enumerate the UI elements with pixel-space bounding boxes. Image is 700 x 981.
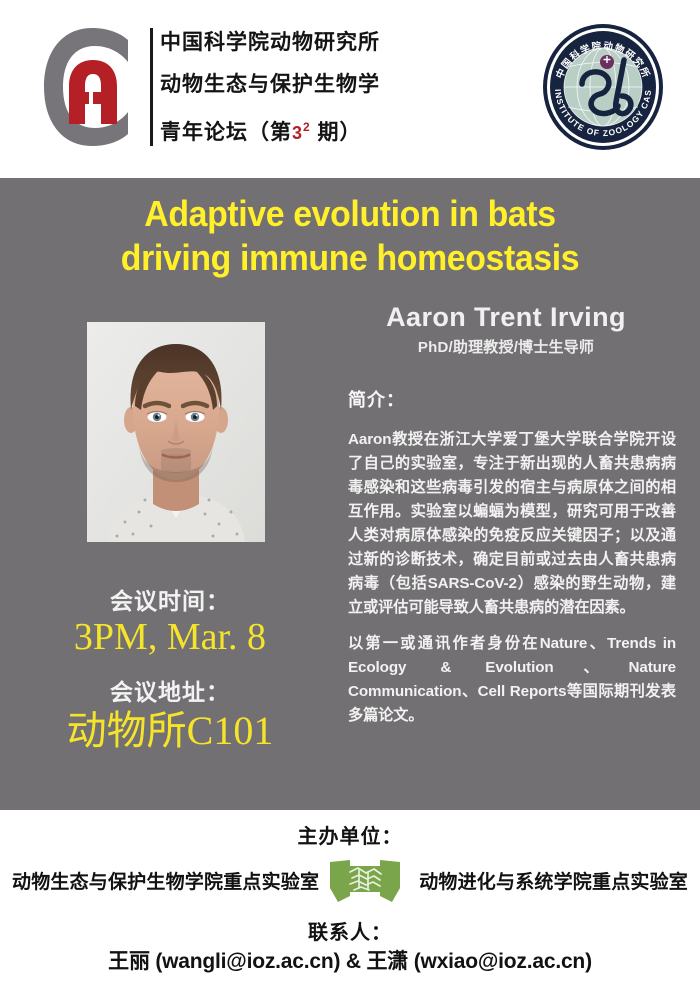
meeting-time-value: 3PM, Mar. 8 [10, 614, 330, 660]
speaker-portrait-photo [87, 322, 265, 542]
meeting-time-label: 会议时间： [20, 582, 320, 616]
poster-main-panel: Adaptive evolution in bats driving immun… [0, 178, 700, 810]
poster-header: 中国科学院动物研究所 动物生态与保护生物学 青年论坛（第32 期） [0, 0, 700, 178]
poster-title-line-1: Adaptive evolution in bats [21, 192, 679, 236]
header-department-line: 动物生态与保护生物学 [160, 64, 550, 106]
host-lab-right: 动物进化与系统学院重点实验室 [419, 867, 688, 894]
cas-c-a-logo-icon [38, 24, 146, 150]
bio-paragraph-2: 以第一或通讯作者身份在Nature、Trends in Ecology & Ev… [348, 632, 676, 728]
poster-footer: 主办单位： 动物生态与保护生物学院重点实验室 动物进化与系统学院重点实验室 联系… [0, 810, 700, 981]
poster-title: Adaptive evolution in bats driving immun… [21, 192, 679, 280]
handshake-icon [328, 858, 402, 904]
forum-suffix-text: 期） [318, 121, 362, 144]
header-text-block: 中国科学院动物研究所 动物生态与保护生物学 青年论坛（第32 期） [160, 22, 550, 154]
host-label: 主办单位： [0, 820, 700, 849]
speaker-name: Aaron Trent Irving [330, 302, 682, 333]
poster-title-line-2: driving immune homeostasis [21, 236, 679, 280]
forum-prefix-text: 青年论坛（第 [160, 121, 292, 144]
bio-paragraph-1: Aaron教授在浙江大学爱丁堡大学联合学院开设了自己的实验室，专注于新出现的人畜… [348, 428, 676, 620]
forum-issue-superscript: 2 [303, 120, 311, 134]
host-lab-left: 动物生态与保护生物学院重点实验室 [12, 867, 319, 894]
contact-people: 王丽 (wangli@ioz.ac.cn) & 王潇 (wxiao@ioz.ac… [0, 945, 700, 975]
meeting-place-value: 动物所C101 [10, 708, 330, 754]
forum-issue-number: 3 [292, 123, 303, 143]
meeting-place-label: 会议地址： [20, 673, 320, 707]
speaker-role: PhD/助理教授/博士生导师 [330, 336, 682, 357]
header-forum-line: 青年论坛（第32 期） [160, 106, 550, 154]
bio-heading: 简介： [348, 386, 405, 412]
header-vertical-divider [150, 28, 153, 146]
header-institute-line: 中国科学院动物研究所 [160, 22, 550, 64]
contact-label: 联系人： [0, 916, 700, 945]
institute-of-zoology-seal-icon: 中国科学院动物研究所 INSTITUTE OF ZOOLOGY CAS [538, 22, 668, 152]
